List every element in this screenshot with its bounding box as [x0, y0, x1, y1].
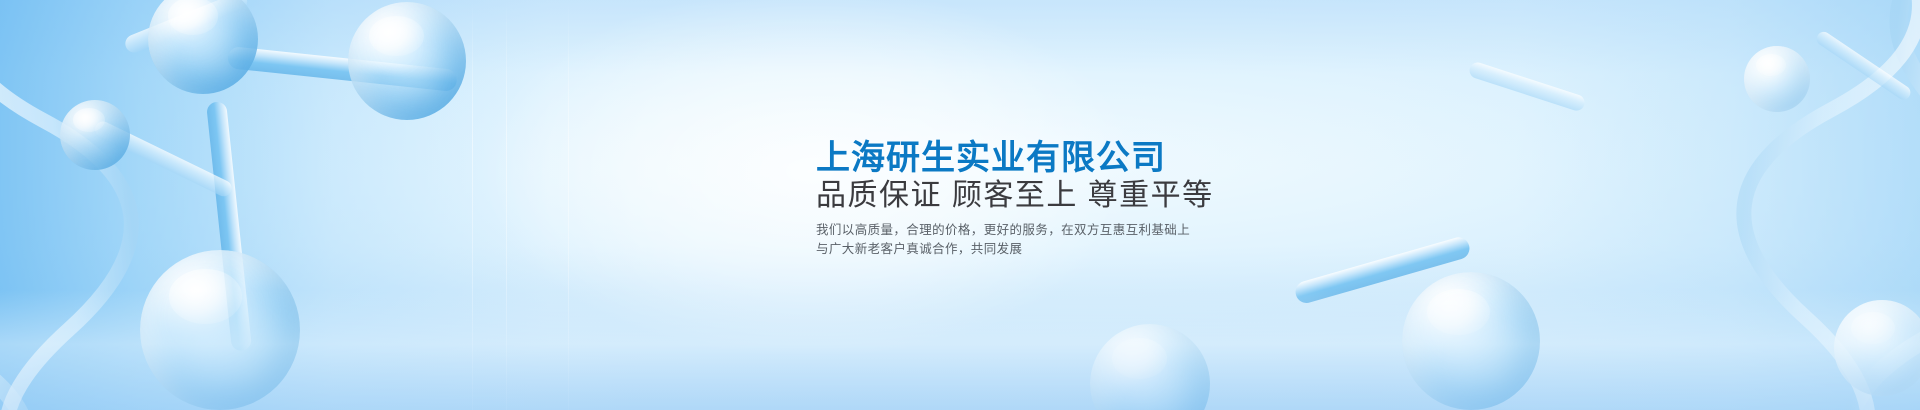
company-name: 上海研生实业有限公司 — [816, 138, 1236, 178]
molecule-sphere-left-2 — [348, 2, 466, 120]
background-bottom-band — [0, 290, 1920, 410]
description-line-1: 我们以高质量，合理的价格，更好的服务，在双方互惠互利基础上 — [816, 221, 1236, 240]
hero-banner: 上海研生实业有限公司 品质保证 顾客至上 尊重平等 我们以高质量，合理的价格，更… — [0, 0, 1920, 410]
banner-copy-block: 上海研生实业有限公司 品质保证 顾客至上 尊重平等 我们以高质量，合理的价格，更… — [816, 138, 1236, 259]
molecule-sphere-left-3 — [60, 100, 130, 170]
company-description: 我们以高质量，合理的价格，更好的服务，在双方互惠互利基础上 与广大新老客户真诚合… — [816, 221, 1236, 259]
company-slogan: 品质保证 顾客至上 尊重平等 — [816, 179, 1236, 213]
description-line-2: 与广大新老客户真诚合作，共同发展 — [816, 240, 1236, 259]
molecule-sphere-right-1 — [1744, 46, 1810, 112]
